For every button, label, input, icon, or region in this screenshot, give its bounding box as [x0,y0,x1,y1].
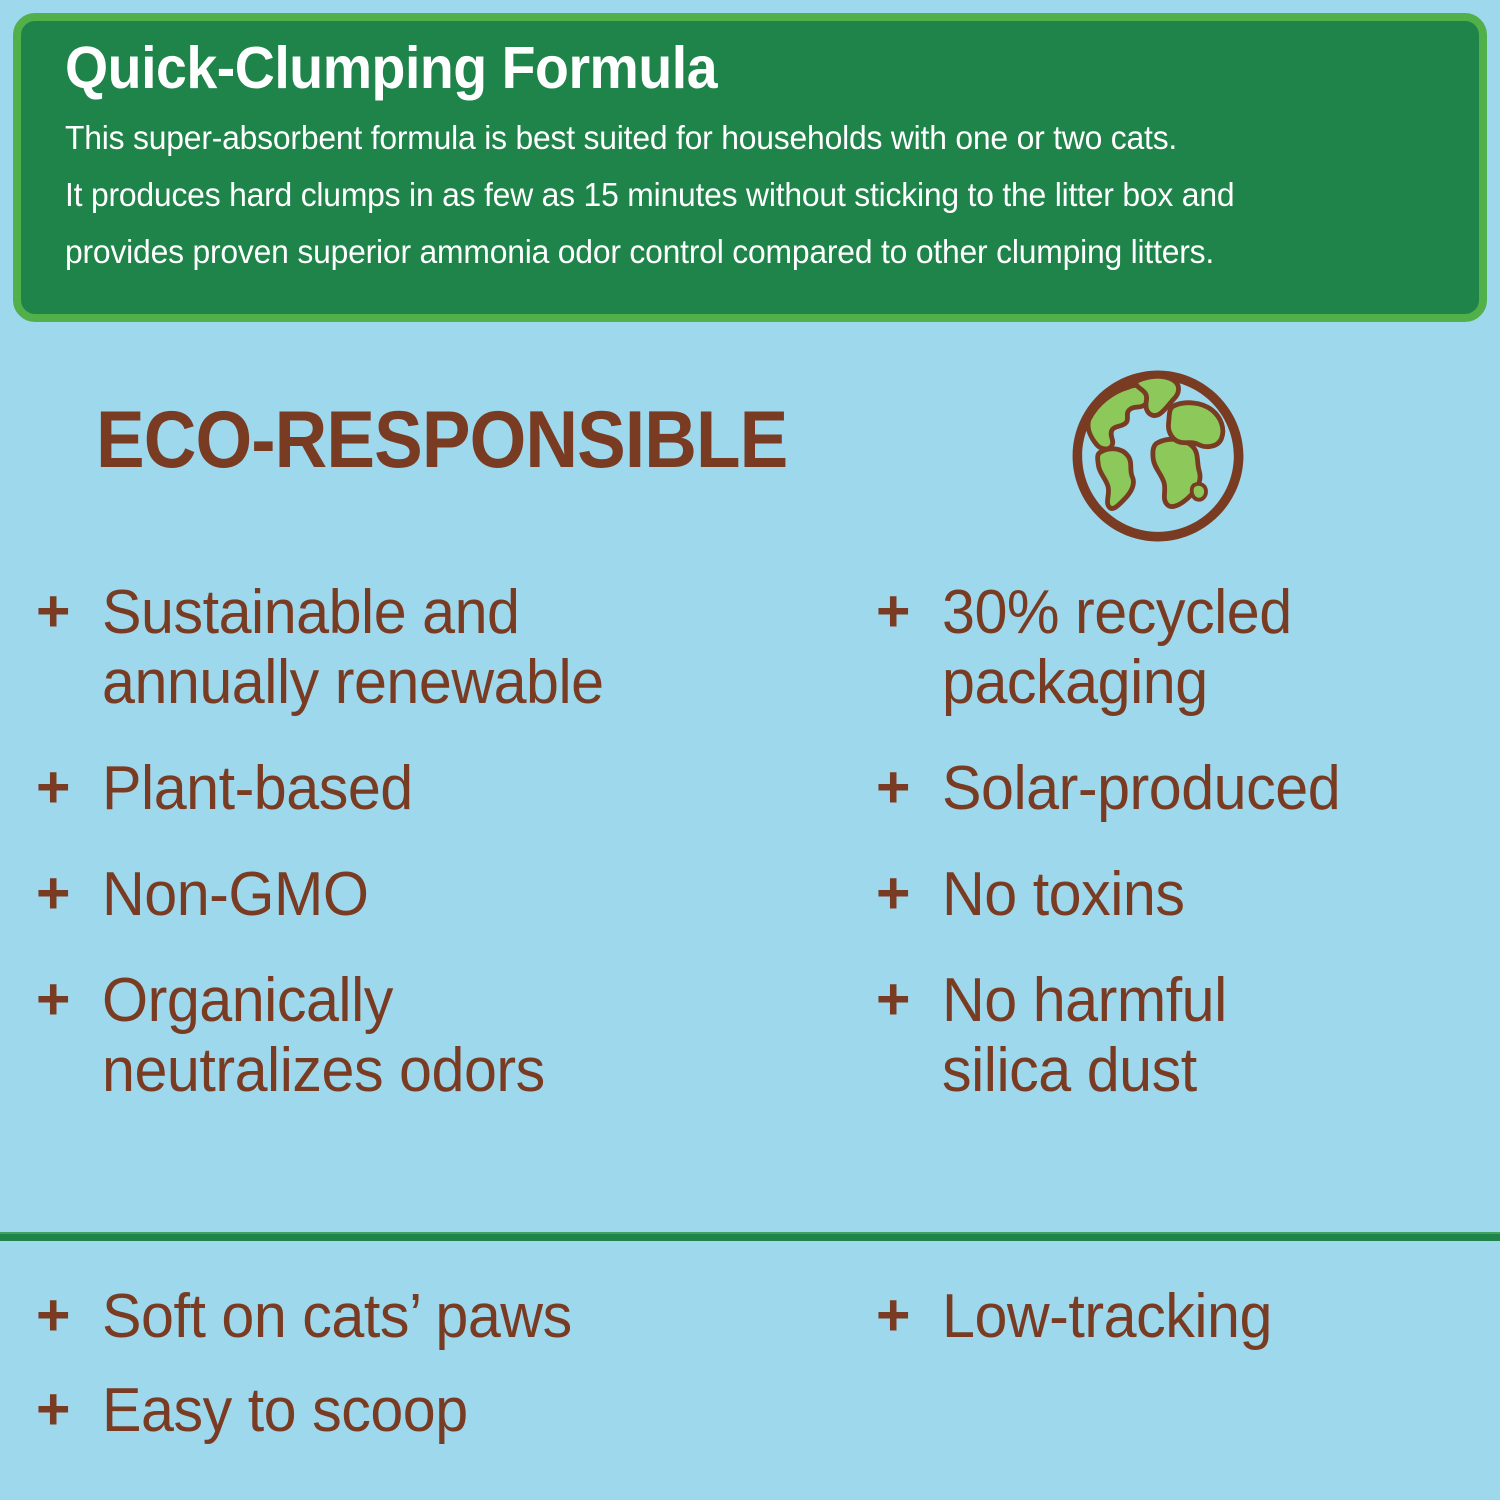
feature-plant-based: Plant-based [102,754,832,824]
list-item: + Organically neutralizes odors [36,966,866,1106]
list-item: + Soft on cats’ paws [36,1282,866,1352]
list-item: + Plant-based [36,754,866,824]
list-item: + Non-GMO [36,860,866,930]
feature-non-gmo: Non-GMO [102,860,832,930]
header-description: This super-absorbent formula is best sui… [65,110,1459,280]
list-item: + No harmful silica dust [876,966,1486,1106]
feature-recycled-packaging: 30% recycled packaging [942,578,1462,718]
list-item: + Sustainable and annually renewable [36,578,866,718]
eco-responsible-header-row: ECO-RESPONSIBLE [0,382,1500,562]
feature-soft-on-cats-paws: Soft on cats’ paws [102,1282,832,1352]
feature-no-harmful-silica-dust: No harmful silica dust [942,966,1462,1106]
eco-features-left-column: + Sustainable and annually renewable + P… [36,578,866,1142]
globe-icon [1062,360,1254,552]
feature-sustainable-renewable: Sustainable and annually renewable [102,578,832,718]
plus-icon: + [876,966,942,1032]
plus-icon: + [876,1282,942,1348]
plus-icon: + [36,578,102,644]
header-content: Quick-Clumping Formula This super-absorb… [65,39,1459,280]
list-item: + 30% recycled packaging [876,578,1486,718]
plus-icon: + [876,860,942,926]
list-item: + Low-tracking [876,1282,1486,1352]
section-divider [0,1232,1500,1241]
plus-icon: + [36,966,102,1032]
header-description-line-3: provides proven superior ammonia odor co… [65,224,1410,281]
header-description-line-2: It produces hard clumps in as few as 15 … [65,167,1410,224]
plus-icon: + [36,754,102,820]
bottom-features-grid: + Soft on cats’ paws + Easy to scoop + L… [0,1282,1500,1500]
quick-clumping-formula-panel: Quick-Clumping Formula This super-absorb… [13,13,1487,322]
feature-low-tracking: Low-tracking [942,1282,1462,1352]
plus-icon: + [36,1282,102,1348]
header-description-line-1: This super-absorbent formula is best sui… [65,110,1410,167]
eco-features-grid: + Sustainable and annually renewable + P… [0,578,1500,1203]
eco-features-right-column: + 30% recycled packaging + Solar-produce… [876,578,1486,1142]
feature-easy-to-scoop: Easy to scoop [102,1376,832,1446]
page-title: Quick-Clumping Formula [65,39,1375,98]
feature-solar-produced: Solar-produced [942,754,1462,824]
feature-no-toxins: No toxins [942,860,1462,930]
plus-icon: + [876,754,942,820]
bottom-features-right-column: + Low-tracking [876,1282,1486,1376]
eco-responsible-heading: ECO-RESPONSIBLE [96,400,787,481]
bottom-features-left-column: + Soft on cats’ paws + Easy to scoop [36,1282,866,1470]
product-feature-infographic: Quick-Clumping Formula This super-absorb… [0,0,1500,1500]
plus-icon: + [36,860,102,926]
plus-icon: + [876,578,942,644]
list-item: + No toxins [876,860,1486,930]
feature-organically-neutralizes-odors: Organically neutralizes odors [102,966,832,1106]
plus-icon: + [36,1376,102,1442]
list-item: + Easy to scoop [36,1376,866,1446]
list-item: + Solar-produced [876,754,1486,824]
